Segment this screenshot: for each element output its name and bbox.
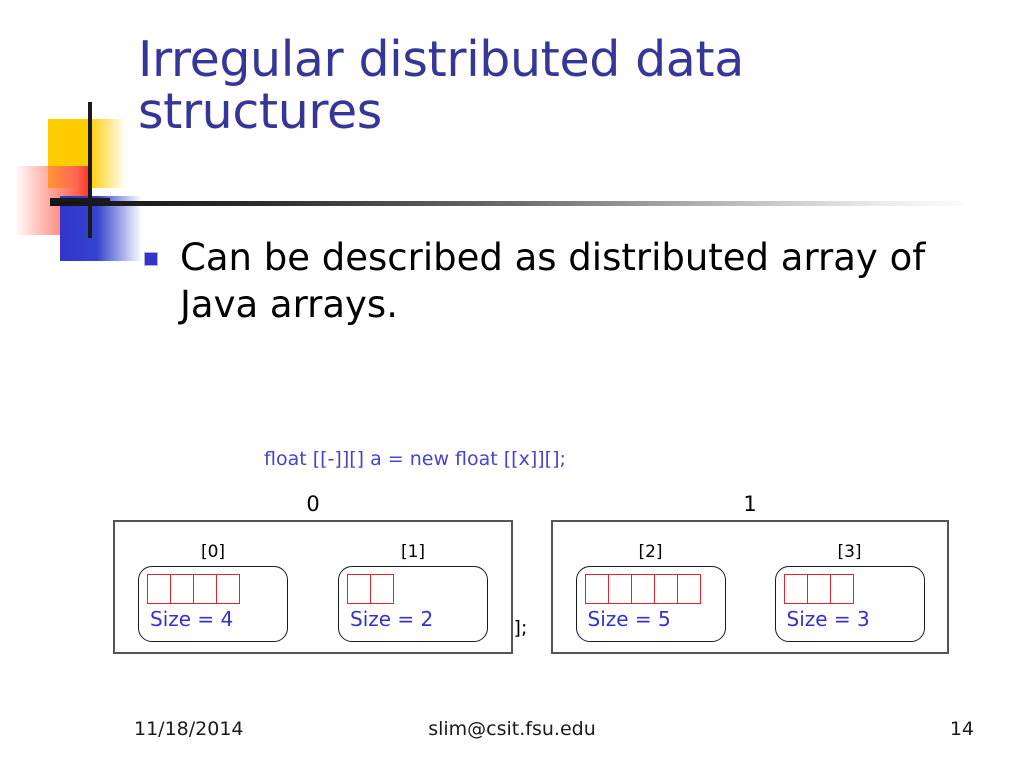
array-group: [1] Size = 2: [338, 542, 488, 642]
array-index-label: [3]: [775, 542, 925, 563]
array-cell: [784, 574, 808, 604]
array-cell: [608, 574, 632, 604]
array-size-label: Size = 2: [347, 608, 479, 630]
array-cell: [347, 574, 371, 604]
array-card: Size = 5: [576, 566, 726, 642]
array-cell: [807, 574, 831, 604]
array-cells: [147, 574, 279, 604]
array-group: [3] Size = 3: [775, 542, 925, 642]
array-index-label: [2]: [576, 542, 726, 563]
array-cell: [147, 574, 171, 604]
diagram-panel-0: 0 [0] Size = 4 [1: [113, 520, 513, 654]
array-cells: [347, 574, 479, 604]
array-cell: [677, 574, 701, 604]
bullet-text: Can be described as distributed array of…: [180, 234, 998, 329]
panel-label: 0: [113, 492, 513, 516]
panel-arrays: [0] Size = 4 [1]: [113, 542, 513, 642]
array-card: Size = 4: [138, 566, 288, 642]
array-cell: [654, 574, 678, 604]
footer-page-number: 14: [950, 718, 974, 740]
array-cell: [370, 574, 394, 604]
slide-footer: 11/18/2014 slim@csit.fsu.edu 14: [0, 718, 1024, 746]
array-card: Size = 2: [338, 566, 488, 642]
array-size-label: Size = 4: [147, 608, 279, 630]
array-cell: [170, 574, 194, 604]
logo-vertical-line: [88, 102, 92, 238]
array-cell: [830, 574, 854, 604]
page-title: Irregular distributed data structures: [138, 34, 938, 138]
code-line-1: float [[-]][] a = new float [[x]][];: [264, 445, 566, 473]
array-size-label: Size = 5: [585, 608, 717, 630]
array-index-label: [1]: [338, 542, 488, 563]
array-cell: [216, 574, 240, 604]
diagram-panel-1: 1 [2] Size = 5: [551, 520, 949, 654]
panel-arrays: [2] Size = 5 [3]: [551, 542, 949, 642]
array-cells: [784, 574, 916, 604]
array-cells: [585, 574, 717, 604]
array-index-label: [0]: [138, 542, 288, 563]
slide: Irregular distributed data structures Ca…: [0, 0, 1024, 768]
title-divider: [50, 201, 962, 206]
array-cell: [585, 574, 609, 604]
diagram: 0 [0] Size = 4 [1: [0, 496, 1024, 666]
square-bullet-icon: [144, 252, 158, 266]
panel-label: 1: [551, 492, 949, 516]
array-cell: [631, 574, 655, 604]
array-group: [2] Size = 5: [576, 542, 726, 642]
array-cell: [193, 574, 217, 604]
footer-email: slim@csit.fsu.edu: [0, 718, 1024, 740]
array-group: [0] Size = 4: [138, 542, 288, 642]
array-card: Size = 3: [775, 566, 925, 642]
array-size-label: Size = 3: [784, 608, 916, 630]
bullet-list-item: Can be described as distributed array of…: [144, 234, 1014, 329]
